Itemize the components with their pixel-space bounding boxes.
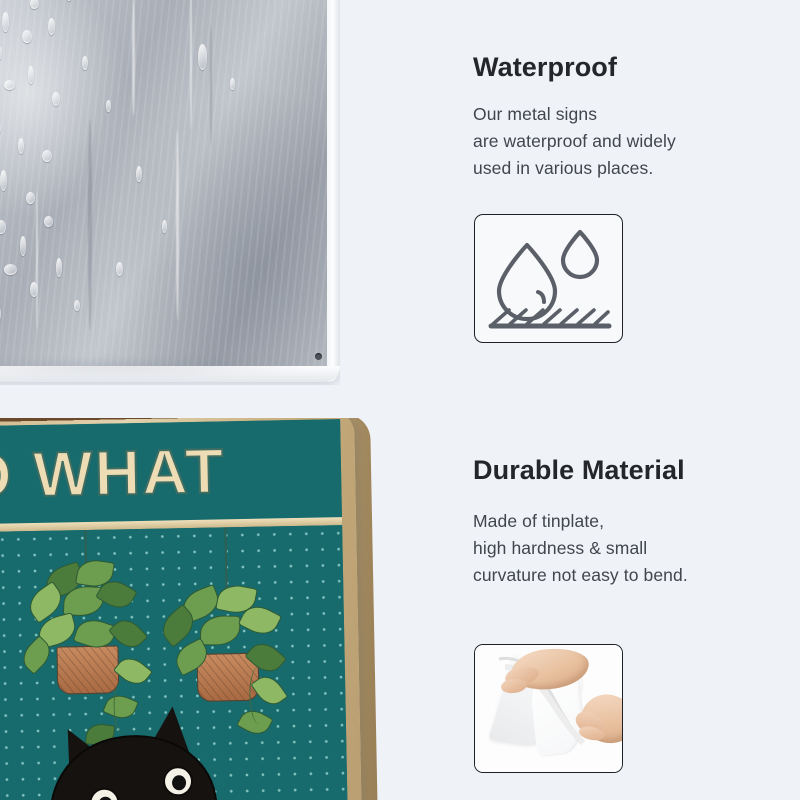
brushed-metal-texture — [0, 0, 340, 382]
feature-body-line-2: high hardness & small — [473, 535, 688, 562]
feature-body-line-3: curvature not easy to bend. — [473, 562, 688, 589]
durable-material-icon-box — [474, 644, 623, 773]
hanging-plant-left — [0, 532, 11, 774]
droplet-highlight — [538, 292, 544, 302]
metal-plate-surface — [0, 0, 340, 382]
feature-title-durable-material: Durable Material — [473, 455, 688, 486]
hands-bending-sheet-photo — [475, 645, 622, 772]
waterproof-droplet-icon — [475, 215, 623, 343]
tin-sign-artwork: DO WHAT — [0, 419, 348, 800]
product-photo-column: DO WHAT — [0, 0, 400, 800]
large-water-droplet — [499, 245, 555, 319]
vintage-cat-tin-sign-photo: DO WHAT — [0, 418, 380, 800]
sign-headline: DO WHAT — [0, 435, 226, 513]
feature-title-waterproof: Waterproof — [473, 52, 676, 83]
feature-body-line-1: Made of tinplate, — [473, 508, 688, 535]
tuxedo-cat-illustration — [26, 712, 290, 800]
tin-sign-face: DO WHAT — [0, 418, 362, 800]
wet-metal-sign-photo — [0, 0, 340, 385]
feature-body-line-2: are waterproof and widely — [473, 128, 676, 155]
product-feature-infographic: DO WHAT — [0, 0, 800, 800]
metal-sign-shadow — [0, 362, 320, 378]
feature-body-line-3: used in various places. — [473, 155, 676, 182]
metal-sign-right-edge — [327, 0, 340, 382]
small-water-droplet — [563, 232, 597, 277]
pegboard-background — [0, 525, 348, 800]
feature-body-line-1: Our metal signs — [473, 101, 676, 128]
feature-waterproof: Waterproof Our metal signs are waterproo… — [473, 52, 676, 182]
feature-durable-material: Durable Material Made of tinplate, high … — [473, 455, 688, 589]
waterproof-icon-box — [474, 214, 623, 343]
mounting-hole — [315, 353, 322, 360]
headline-band: DO WHAT — [0, 419, 342, 523]
